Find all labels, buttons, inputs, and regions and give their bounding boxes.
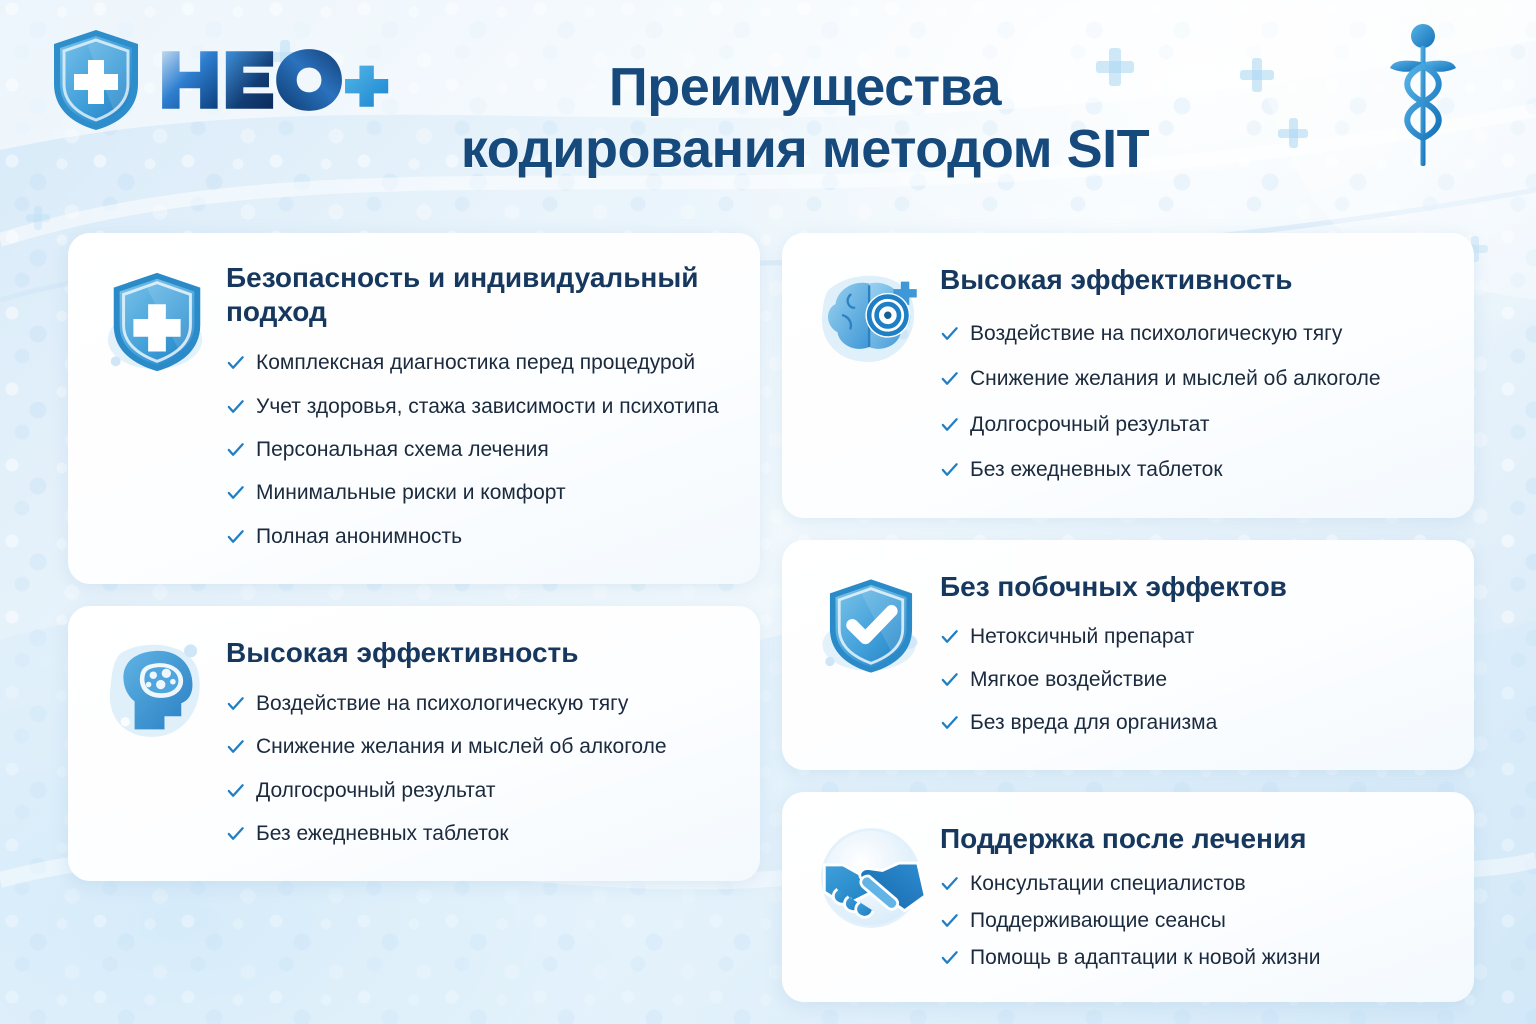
list-item-label: Воздействие на психологическую тягу (256, 690, 628, 717)
check-icon (940, 874, 959, 893)
list-item: Минимальные риски и комфорт (226, 471, 734, 514)
list-item-label: Долгосрочный результат (970, 411, 1210, 438)
list-item: Поддерживающие сеансы (940, 902, 1448, 939)
list-item: Воздействие на психологическую тягу (940, 311, 1448, 356)
card-support[interactable]: Поддержка после лечения Консультации спе… (782, 792, 1474, 1002)
card-icon-slot (802, 259, 940, 492)
card-body: Высокая эффективность Воздействие на пси… (940, 259, 1448, 492)
infographic-poster: Преимущества кодирования методом SIT (0, 0, 1536, 1024)
list-item: Без вреда для организма (940, 701, 1448, 744)
list-item-label: Долгосрочный результат (256, 777, 496, 804)
card-body: Без побочных эффектов Нетоксичный препар… (940, 566, 1448, 744)
check-icon (940, 627, 959, 646)
card-icon-slot (802, 818, 940, 976)
list-item: Долгосрочный результат (226, 769, 734, 812)
list-item: Консультации специалистов (940, 865, 1448, 902)
list-item-label: Учет здоровья, стажа зависимости и психо… (256, 393, 719, 420)
card-icon-slot (88, 632, 226, 855)
benefit-list: Воздействие на психологическую тягу Сниж… (226, 682, 734, 855)
list-item: Долгосрочный результат (940, 402, 1448, 447)
card-title: Высокая эффективность (226, 636, 734, 670)
check-icon (940, 911, 959, 930)
check-icon (226, 737, 245, 756)
card-safety[interactable]: Безопасность и индивидуальный подход Ком… (68, 233, 760, 584)
card-body: Безопасность и индивидуальный подход Ком… (226, 259, 734, 558)
check-icon (226, 694, 245, 713)
check-icon (940, 415, 959, 434)
list-item: Без ежедневных таблеток (226, 812, 734, 855)
cards-column-right: Высокая эффективность Воздействие на пси… (782, 233, 1474, 1002)
list-item: Персональная схема лечения (226, 428, 734, 471)
caduceus-icon (1388, 22, 1458, 172)
list-item-label: Снижение желания и мыслей об алкоголе (970, 365, 1381, 392)
list-item-label: Персональная схема лечения (256, 436, 549, 463)
check-icon (940, 948, 959, 967)
card-icon-slot (802, 566, 940, 744)
check-icon (226, 440, 245, 459)
list-item-label: Без ежедневных таблеток (970, 456, 1223, 483)
list-item-label: Полная анонимность (256, 523, 462, 550)
list-item: Мягкое воздействие (940, 658, 1448, 701)
list-item: Комплексная диагностика перед процедурой (226, 341, 734, 384)
list-item-label: Без вреда для организма (970, 709, 1217, 736)
check-icon (226, 483, 245, 502)
check-icon (226, 353, 245, 372)
benefit-list: Комплексная диагностика перед процедурой… (226, 341, 734, 557)
list-item-label: Мягкое воздействие (970, 666, 1167, 693)
check-icon (940, 460, 959, 479)
head-brain-icon (101, 636, 213, 748)
list-item: Снижение желания и мыслей об алкоголе (226, 725, 734, 768)
check-icon (226, 781, 245, 800)
shield-check-icon (815, 570, 927, 682)
card-effectiveness-right[interactable]: Высокая эффективность Воздействие на пси… (782, 233, 1474, 518)
list-item: Учет здоровья, стажа зависимости и психо… (226, 385, 734, 428)
check-icon (940, 369, 959, 388)
list-item: Помощь в адаптации к новой жизни (940, 939, 1448, 976)
poster-header: Преимущества кодирования методом SIT (0, 0, 1536, 205)
card-title: Поддержка после лечения (940, 822, 1448, 856)
list-item: Снижение желания и мыслей об алкоголе (940, 356, 1448, 401)
list-item-label: Помощь в адаптации к новой жизни (970, 944, 1321, 971)
handshake-icon (815, 822, 927, 934)
page-title-line-2: кодирования методом SIT (300, 118, 1310, 180)
card-body: Высокая эффективность Воздействие на пси… (226, 632, 734, 855)
list-item: Нетоксичный препарат (940, 615, 1448, 658)
card-effectiveness-left[interactable]: Высокая эффективность Воздействие на пси… (68, 606, 760, 881)
card-title: Высокая эффективность (940, 263, 1448, 297)
benefit-list: Нетоксичный препарат Мягкое воздействие … (940, 615, 1448, 745)
card-title: Без побочных эффектов (940, 570, 1448, 604)
list-item-label: Снижение желания и мыслей об алкоголе (256, 733, 667, 760)
check-icon (940, 713, 959, 732)
list-item-label: Нетоксичный препарат (970, 623, 1194, 650)
list-item-label: Комплексная диагностика перед процедурой (256, 349, 695, 376)
list-item: Воздействие на психологическую тягу (226, 682, 734, 725)
card-body: Поддержка после лечения Консультации спе… (940, 818, 1448, 976)
list-item: Без ежедневных таблеток (940, 447, 1448, 492)
cards-column-left: Безопасность и индивидуальный подход Ком… (68, 233, 760, 881)
list-item-label: Без ежедневных таблеток (256, 820, 509, 847)
check-icon (940, 324, 959, 343)
page-title: Преимущества кодирования методом SIT (300, 56, 1310, 180)
list-item-label: Минимальные риски и комфорт (256, 479, 566, 506)
card-icon-slot (88, 259, 226, 558)
check-icon (226, 397, 245, 416)
brain-target-icon (815, 263, 927, 375)
shield-cross-icon (98, 263, 216, 381)
check-icon (226, 527, 245, 546)
shield-cross-icon (48, 26, 144, 134)
list-item-label: Воздействие на психологическую тягу (970, 320, 1342, 347)
decorative-cross-icon (26, 206, 50, 230)
list-item-label: Поддерживающие сеансы (970, 907, 1226, 934)
card-no-side-effects[interactable]: Без побочных эффектов Нетоксичный препар… (782, 540, 1474, 770)
page-title-line-1: Преимущества (609, 57, 1001, 117)
card-title: Безопасность и индивидуальный подход (226, 261, 734, 329)
check-icon (940, 670, 959, 689)
list-item: Полная анонимность (226, 515, 734, 558)
list-item-label: Консультации специалистов (970, 870, 1246, 897)
benefit-list: Воздействие на психологическую тягу Сниж… (940, 311, 1448, 492)
check-icon (226, 824, 245, 843)
benefit-list: Консультации специалистов Поддерживающие… (940, 865, 1448, 977)
